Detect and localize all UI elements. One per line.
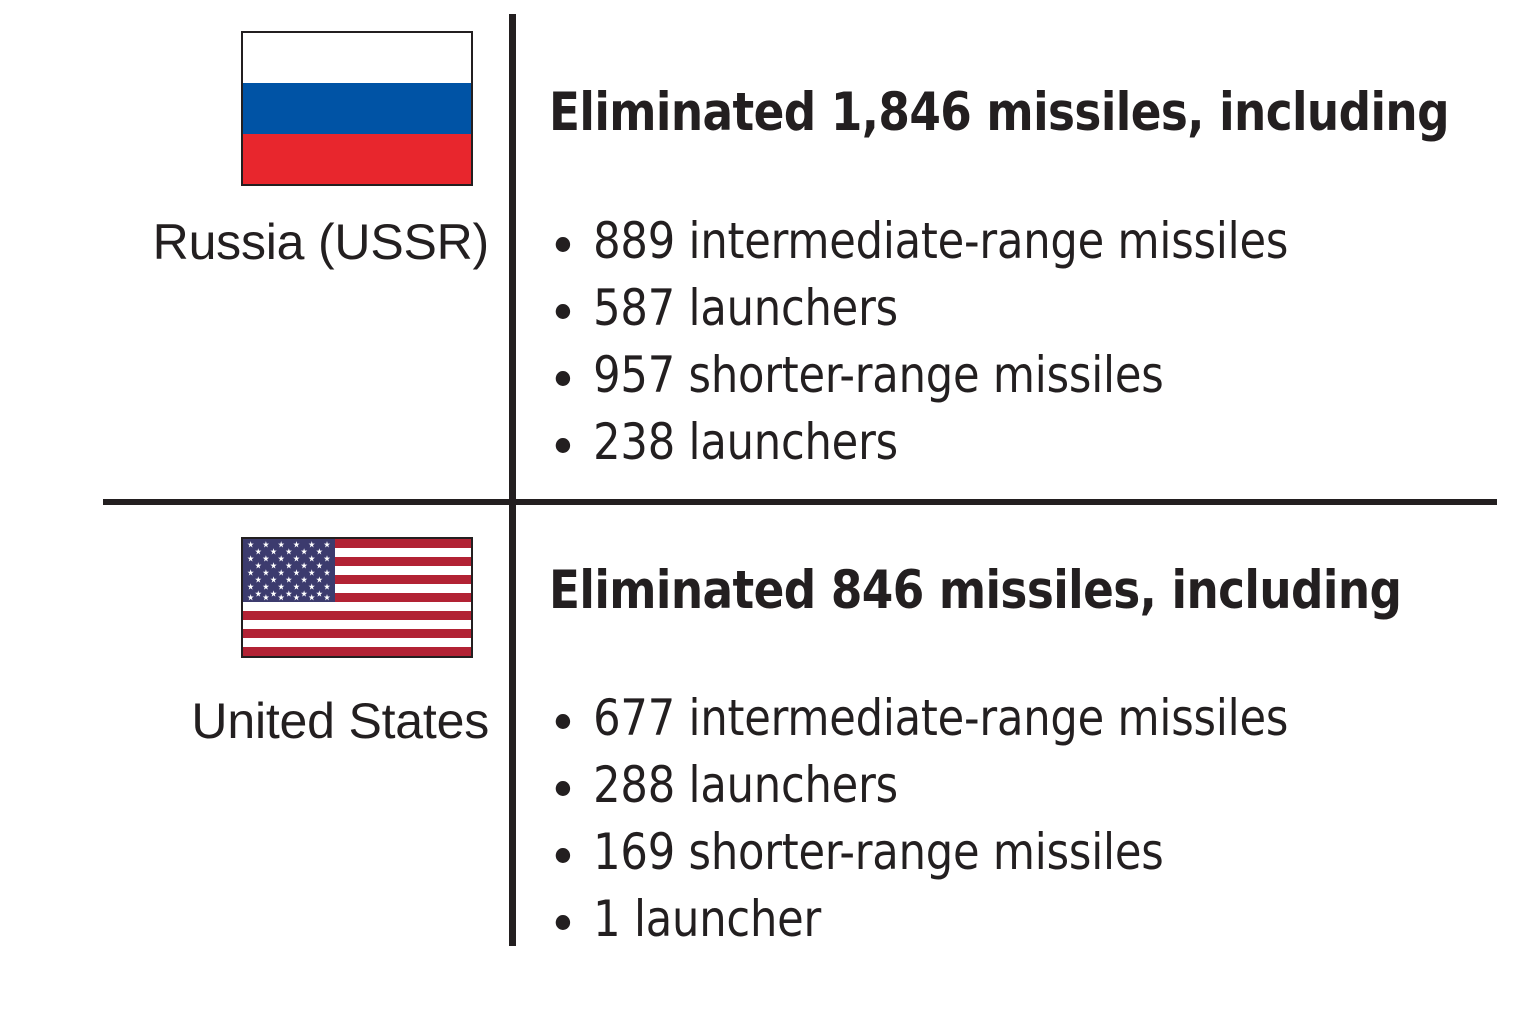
bullet-list-russia: 889 intermediate-range missiles 587 laun…	[549, 208, 1319, 476]
table-row-russia: Russia (USSR) Eliminated 1,846 missiles,…	[0, 0, 1540, 499]
flag-stripe	[243, 647, 471, 656]
table-row-united-states: United States Eliminated 846 missiles, i…	[0, 505, 1540, 1018]
bullet-dot-icon	[556, 304, 570, 319]
list-item-label: 1 launcher	[593, 890, 821, 948]
list-item: 587 launchers	[549, 275, 1288, 342]
bullet-dot-icon	[556, 781, 570, 796]
list-item-label: 169 shorter-range missiles	[593, 823, 1163, 881]
list-item-label: 889 intermediate-range missiles	[593, 212, 1288, 270]
flag-stripe	[243, 629, 471, 638]
usa-flag-wrap	[241, 537, 473, 658]
list-item-label: 677 intermediate-range missiles	[593, 689, 1288, 747]
country-cell-russia: Russia (USSR)	[0, 0, 509, 499]
flag-stripe	[243, 602, 471, 611]
flag-band-red	[243, 134, 471, 184]
flag-band-blue	[243, 83, 471, 133]
list-item: 288 launchers	[549, 752, 1288, 819]
inf-treaty-elimination-table: Russia (USSR) Eliminated 1,846 missiles,…	[0, 0, 1540, 1018]
content-cell-russia: Eliminated 1,846 missiles, including 889…	[549, 0, 1509, 499]
russia-flag-icon	[241, 31, 473, 186]
flag-band-white	[243, 33, 471, 83]
country-label-russia: Russia (USSR)	[0, 213, 489, 271]
list-item-label: 238 launchers	[593, 413, 898, 471]
headline-united-states: Eliminated 846 missiles, including	[549, 560, 1401, 621]
flag-stripe	[243, 611, 471, 620]
bullet-dot-icon	[556, 371, 570, 386]
bullet-dot-icon	[556, 438, 570, 453]
russia-flag-wrap	[241, 31, 473, 186]
list-item: 677 intermediate-range missiles	[549, 685, 1288, 752]
list-item: 169 shorter-range missiles	[549, 819, 1288, 886]
headline-russia: Eliminated 1,846 missiles, including	[549, 82, 1449, 143]
content-cell-united-states: Eliminated 846 missiles, including 677 i…	[549, 505, 1509, 1018]
country-label-united-states: United States	[0, 692, 489, 750]
list-item: 238 launchers	[549, 409, 1288, 476]
bullet-list-united-states: 677 intermediate-range missiles 288 laun…	[549, 685, 1319, 953]
country-cell-united-states: United States	[0, 505, 509, 1018]
list-item: 889 intermediate-range missiles	[549, 208, 1288, 275]
flag-stripe	[243, 620, 471, 629]
usa-flag-icon	[241, 537, 473, 658]
bullet-dot-icon	[556, 848, 570, 863]
flag-stripe	[243, 638, 471, 647]
bullet-dot-icon	[556, 915, 570, 930]
list-item: 957 shorter-range missiles	[549, 342, 1288, 409]
list-item-label: 587 launchers	[593, 279, 898, 337]
bullet-dot-icon	[556, 714, 570, 729]
flag-canton	[243, 539, 335, 602]
bullet-dot-icon	[556, 237, 570, 252]
list-item: 1 launcher	[549, 886, 1288, 953]
list-item-label: 288 launchers	[593, 756, 898, 814]
list-item-label: 957 shorter-range missiles	[593, 346, 1163, 404]
